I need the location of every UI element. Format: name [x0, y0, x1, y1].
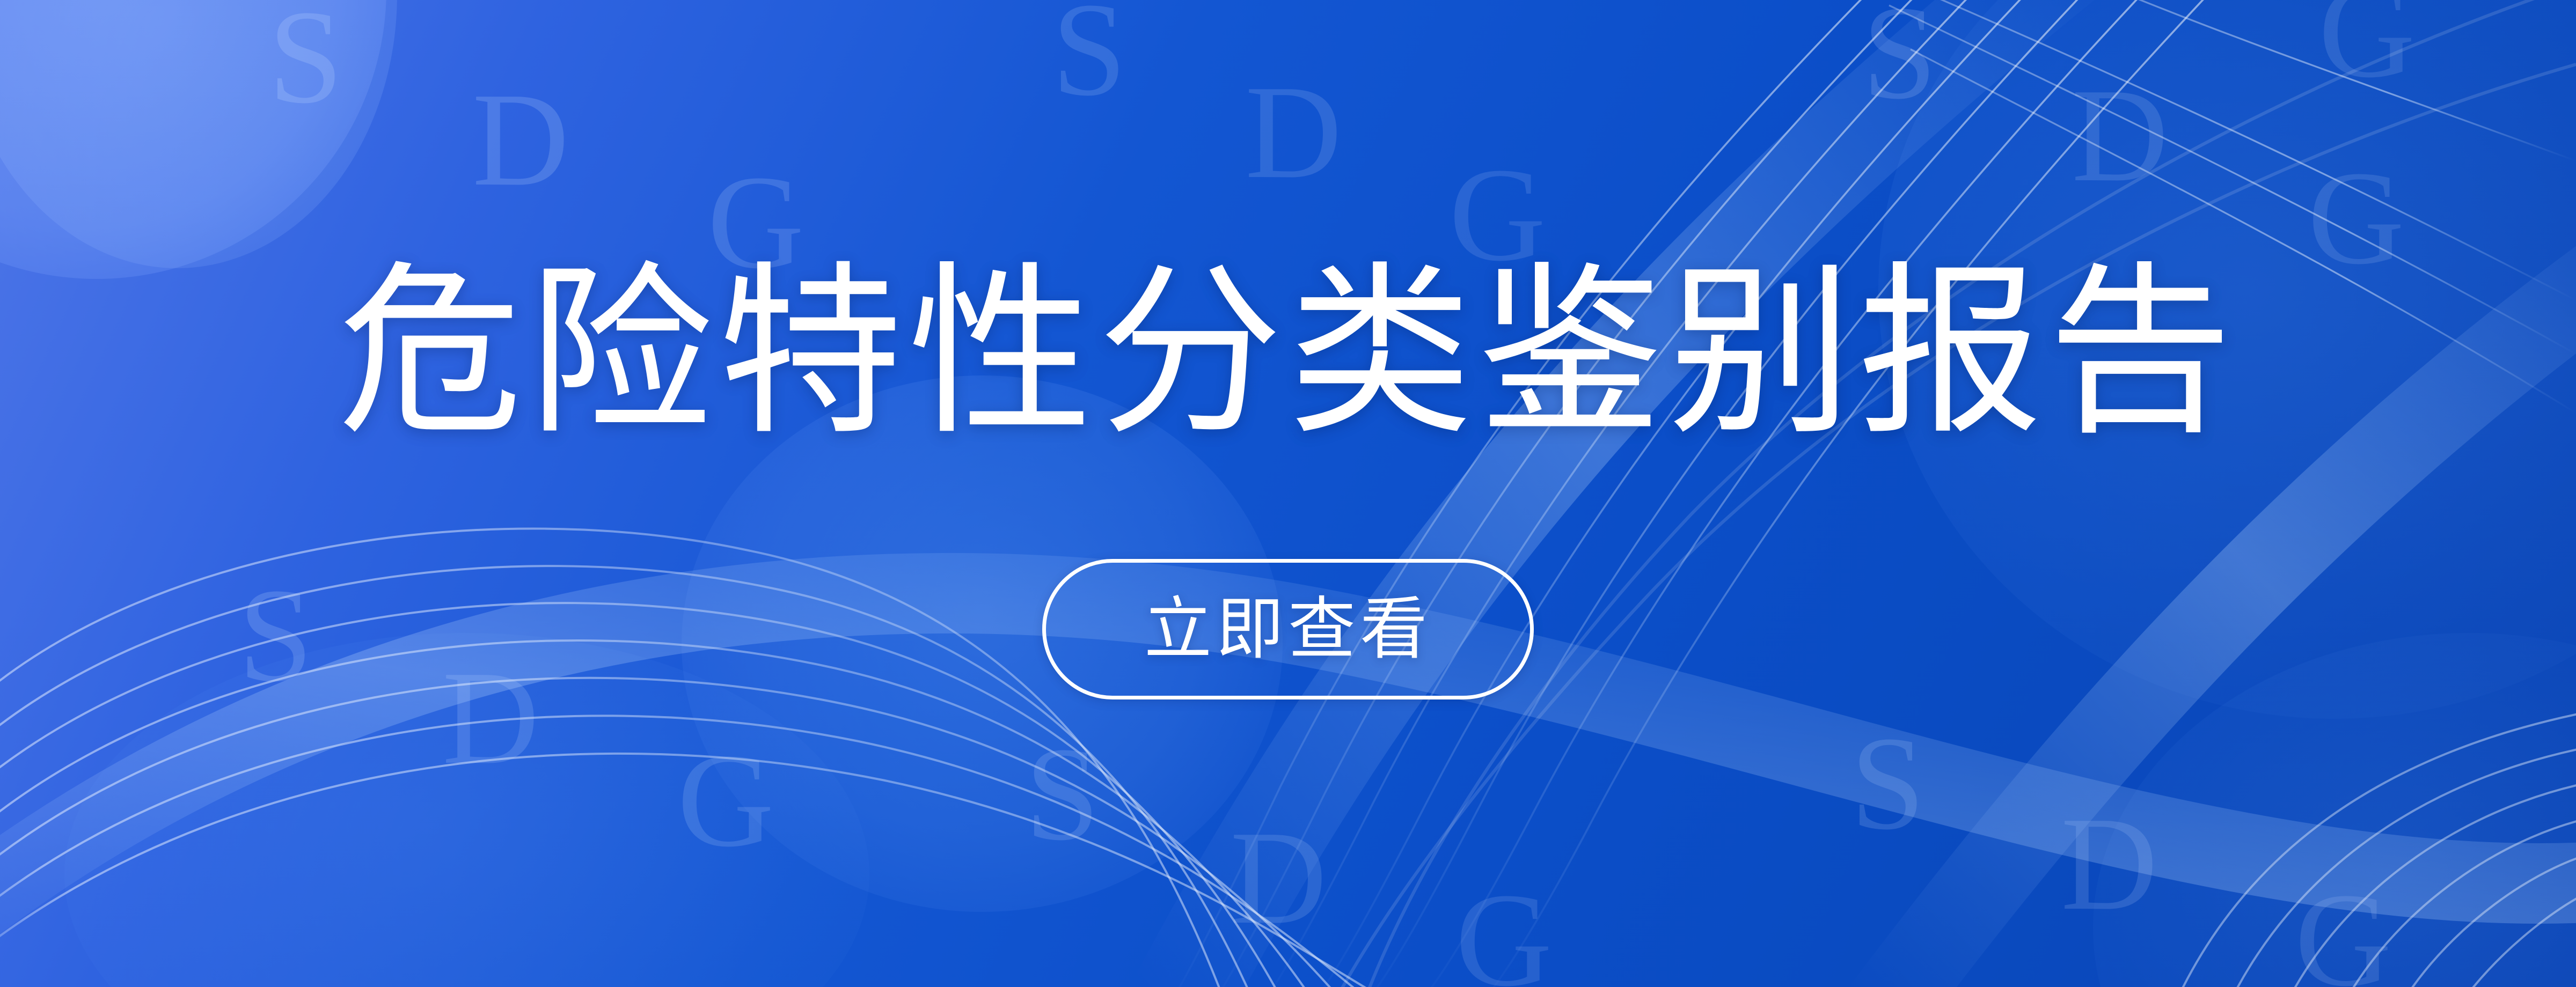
page-title: 危险特性分类鉴别报告 — [338, 261, 2238, 445]
promo-banner: SDGSDGSDGSDGSDGSDGG — [0, 0, 2576, 987]
banner-content: 危险特性分类鉴别报告 立即查看 — [0, 0, 2576, 987]
view-now-button-label: 立即查看 — [1144, 595, 1432, 663]
view-now-button[interactable]: 立即查看 — [1042, 559, 1534, 699]
